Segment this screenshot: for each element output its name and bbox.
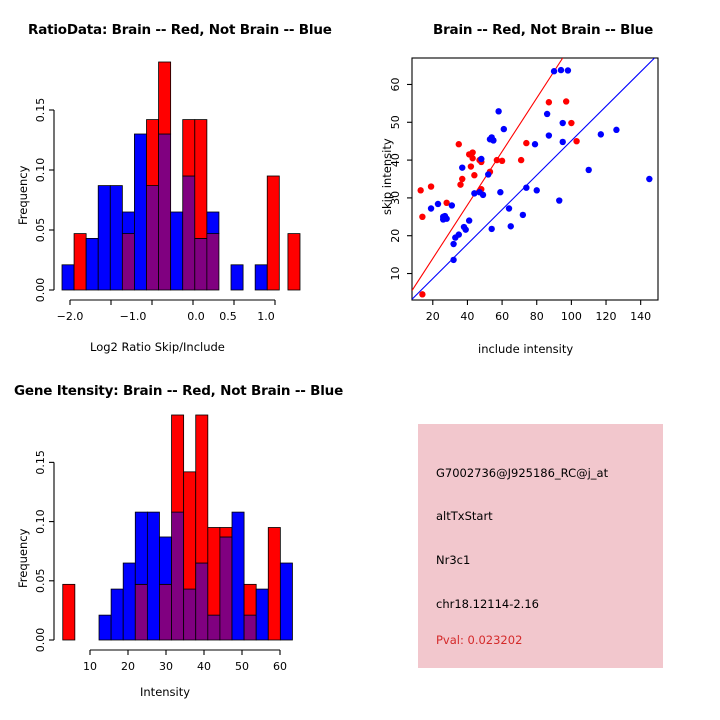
- scatter-point: [449, 202, 455, 208]
- histogram-bar: [122, 212, 134, 234]
- x-tick-label: 0.0: [187, 310, 205, 323]
- x-tick-label: 50: [235, 660, 249, 673]
- scatter-point: [501, 126, 507, 132]
- scatter-point: [469, 149, 475, 155]
- y-tick-label: 50: [389, 115, 402, 129]
- histogram-bar: [172, 415, 184, 512]
- y-tick-label: 0.00: [34, 278, 47, 303]
- y-tick-label: 10: [389, 267, 402, 281]
- scatter-point: [488, 226, 494, 232]
- histogram-bar: [244, 584, 256, 615]
- y-tick-label: 0.00: [34, 628, 47, 653]
- scatter-point: [499, 158, 505, 164]
- y-tick-label: 30: [389, 191, 402, 205]
- histogram-bar: [232, 512, 244, 640]
- x-tick-label: 120: [596, 310, 617, 323]
- y-tick-label: 20: [389, 229, 402, 243]
- histogram-bar: [267, 176, 279, 290]
- scatter-point: [573, 138, 579, 144]
- histogram-bar: [62, 265, 74, 290]
- scatter-point: [428, 205, 434, 211]
- scatter-point: [469, 155, 475, 161]
- scatter-point: [556, 197, 562, 203]
- scatter-point: [459, 164, 465, 170]
- scatter-point: [419, 291, 425, 297]
- scatter-point: [563, 98, 569, 104]
- histogram-bar: [184, 472, 196, 589]
- histogram-bar: [99, 615, 111, 640]
- scatter-point: [532, 141, 538, 147]
- histogram-bar: [98, 186, 110, 290]
- histogram-bar-overlap: [172, 512, 184, 640]
- plot-frame: [412, 58, 658, 300]
- scatter-point: [478, 156, 484, 162]
- x-tick-label: 100: [561, 310, 582, 323]
- histogram-bar: [208, 528, 220, 616]
- x-tick-label: −1.0: [120, 310, 147, 323]
- histogram-bar-overlap: [244, 615, 256, 640]
- x-tick-label: 30: [159, 660, 173, 673]
- x-tick-label: 10: [83, 660, 97, 673]
- y-tick-label: 40: [389, 153, 402, 167]
- histogram-bar-overlap: [207, 234, 219, 290]
- histogram-bar-overlap: [195, 238, 207, 290]
- scatter-point: [456, 141, 462, 147]
- histogram-bar: [220, 528, 232, 537]
- scatter-point: [450, 257, 456, 263]
- scatter-point: [417, 187, 423, 193]
- scatter-point: [508, 223, 514, 229]
- histogram-bar-overlap: [122, 234, 134, 290]
- histogram-bar: [123, 563, 135, 640]
- scatter-point: [456, 231, 462, 237]
- y-tick-label: 60: [389, 77, 402, 91]
- scatter-panel: Brain -- Red, Not Brain -- Blue skip int…: [360, 0, 720, 360]
- scatter-point: [471, 172, 477, 178]
- histogram-bar: [147, 120, 159, 186]
- probe-id-text: G7002736@J925186_RC@j_at: [436, 466, 608, 480]
- histogram-bar: [280, 563, 292, 640]
- scatter-point: [613, 127, 619, 133]
- ratio-histogram-panel: RatioData: Brain -- Red, Not Brain -- Bl…: [0, 0, 360, 360]
- y-tick-label: 0.15: [34, 98, 47, 123]
- histogram-bar: [134, 134, 146, 290]
- histogram-bar: [135, 512, 147, 584]
- histogram-bar: [74, 234, 86, 290]
- histogram-bar: [268, 528, 280, 641]
- histogram-bar: [159, 537, 171, 584]
- scatter-point: [459, 176, 465, 182]
- histogram-bar: [231, 265, 243, 290]
- histogram-bar-overlap: [159, 584, 171, 640]
- scatter-point: [586, 167, 592, 173]
- scatter-point: [565, 67, 571, 73]
- scatter-point: [546, 99, 552, 105]
- y-tick-label: 0.10: [34, 509, 47, 534]
- scatter-point: [520, 212, 526, 218]
- scatter-point: [546, 132, 552, 138]
- scatter-point: [598, 131, 604, 137]
- y-tick-label: 0.15: [34, 450, 47, 475]
- scatter-point: [468, 163, 474, 169]
- gene-symbol-text: Nr3c1: [436, 553, 470, 567]
- pvalue-text: Pval: 0.023202: [436, 633, 522, 647]
- x-tick-label: 0.5: [219, 310, 237, 323]
- scatter-point: [497, 189, 503, 195]
- histogram-bar: [183, 120, 195, 176]
- histogram-bar-overlap: [196, 563, 208, 640]
- scatter-point: [568, 120, 574, 126]
- scatter-point: [506, 205, 512, 211]
- x-tick-label: 80: [530, 310, 544, 323]
- x-tick-label: 60: [495, 310, 509, 323]
- scatter-point: [457, 181, 463, 187]
- histogram-bar: [288, 234, 300, 290]
- x-tick-label: 40: [460, 310, 474, 323]
- x-tick-label: 1.0: [257, 310, 275, 323]
- histogram-bar: [207, 212, 219, 234]
- y-tick-label: 0.10: [34, 158, 47, 183]
- x-tick-label: −2.0: [57, 310, 84, 323]
- scatter-point: [490, 137, 496, 143]
- histogram-bars: [63, 415, 293, 640]
- x-tick-label: 140: [630, 310, 651, 323]
- histogram-bar-overlap: [135, 584, 147, 640]
- scatter-point: [480, 192, 486, 198]
- scatter-point: [558, 67, 564, 73]
- scatter-point: [646, 176, 652, 182]
- histogram-bar: [147, 512, 159, 640]
- histogram-bar: [196, 415, 208, 563]
- histogram-bar: [111, 589, 123, 640]
- event-type-text: altTxStart: [436, 509, 493, 523]
- histogram-bar: [171, 212, 183, 290]
- gene-histogram-canvas: 0.000.050.100.15102030405060: [0, 360, 360, 720]
- scatter-point: [485, 171, 491, 177]
- gene-info-panel: G7002736@J925186_RC@j_at altTxStart Nr3c…: [418, 424, 663, 668]
- locus-text: chr18.12114-2.16: [436, 597, 539, 611]
- histogram-bar: [255, 265, 267, 290]
- y-tick-label: 0.05: [34, 569, 47, 594]
- scatter-point: [450, 241, 456, 247]
- histogram-bar: [195, 120, 207, 239]
- scatter-point: [428, 183, 434, 189]
- scatter-point: [495, 108, 501, 114]
- x-tick-label: 20: [426, 310, 440, 323]
- scatter-point: [466, 217, 472, 223]
- scatter-point: [518, 157, 524, 163]
- histogram-bar-overlap: [208, 615, 220, 640]
- histogram-bar: [63, 584, 75, 640]
- scatter-point: [551, 68, 557, 74]
- scatter-point: [435, 201, 441, 207]
- scatter-point: [523, 140, 529, 146]
- gene-histogram-panel: Gene Itensity: Brain -- Red, Not Brain -…: [0, 360, 360, 720]
- trend-lines: [412, 58, 655, 299]
- x-tick-label: 40: [197, 660, 211, 673]
- scatter-point: [443, 216, 449, 222]
- y-tick-label: 0.05: [34, 218, 47, 243]
- histogram-bar: [110, 186, 122, 290]
- scatter-point: [463, 226, 469, 232]
- scatter-point: [560, 120, 566, 126]
- scatter-point: [560, 139, 566, 145]
- x-tick-label: 20: [121, 660, 135, 673]
- ratio-histogram-canvas: 0.000.050.100.15−2.0−1.00.00.51.0: [0, 0, 360, 360]
- histogram-bar-overlap: [159, 134, 171, 290]
- histogram-bar: [256, 589, 268, 640]
- x-tick-label: 60: [273, 660, 287, 673]
- histogram-bar-overlap: [220, 537, 232, 640]
- scatter-point: [534, 187, 540, 193]
- scatter-point: [544, 111, 550, 117]
- trend-line: [412, 58, 655, 299]
- histogram-bar-overlap: [147, 186, 159, 290]
- histogram-bar: [86, 238, 98, 290]
- scatter-canvas: 20406080100120140102030405060: [360, 0, 720, 360]
- histogram-bar-overlap: [184, 589, 196, 640]
- histogram-bars: [62, 62, 300, 290]
- histogram-bar: [159, 62, 171, 134]
- scatter-point: [523, 184, 529, 190]
- histogram-bar-overlap: [183, 176, 195, 290]
- scatter-point: [419, 214, 425, 220]
